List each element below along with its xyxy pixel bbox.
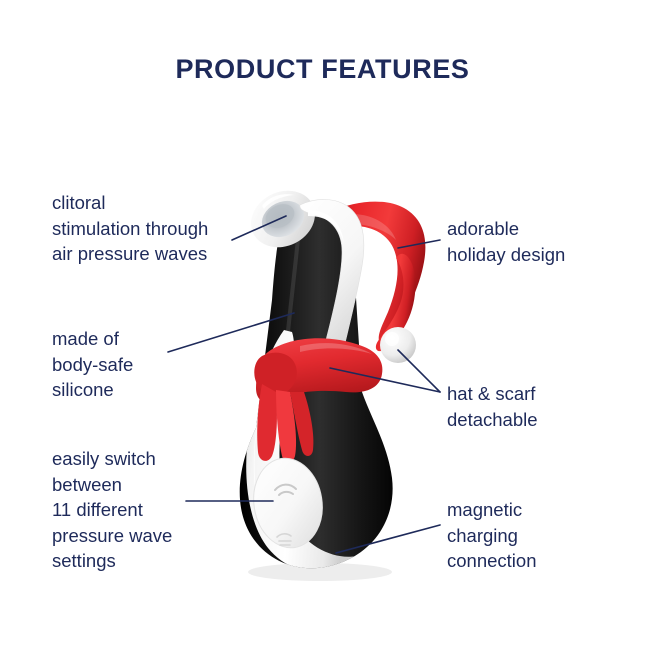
product-features-infographic: PRODUCT FEATURES xyxy=(0,0,645,645)
callout-body-safe-silicone: made of body-safe silicone xyxy=(52,326,232,403)
callout-pressure-wave-settings: easily switch between 11 different press… xyxy=(52,446,242,574)
leader-magnetic xyxy=(336,525,440,553)
leader-scarf xyxy=(330,368,440,392)
callout-hat-scarf-detachable: hat & scarf detachable xyxy=(447,381,627,432)
leader-pompom xyxy=(398,350,440,392)
callout-magnetic-charging: magnetic charging connection xyxy=(447,497,627,574)
callout-holiday-design: adorable holiday design xyxy=(447,216,632,267)
leader-holiday xyxy=(398,240,440,248)
callout-clitoral-stimulation: clitoral stimulation through air pressur… xyxy=(52,190,252,267)
